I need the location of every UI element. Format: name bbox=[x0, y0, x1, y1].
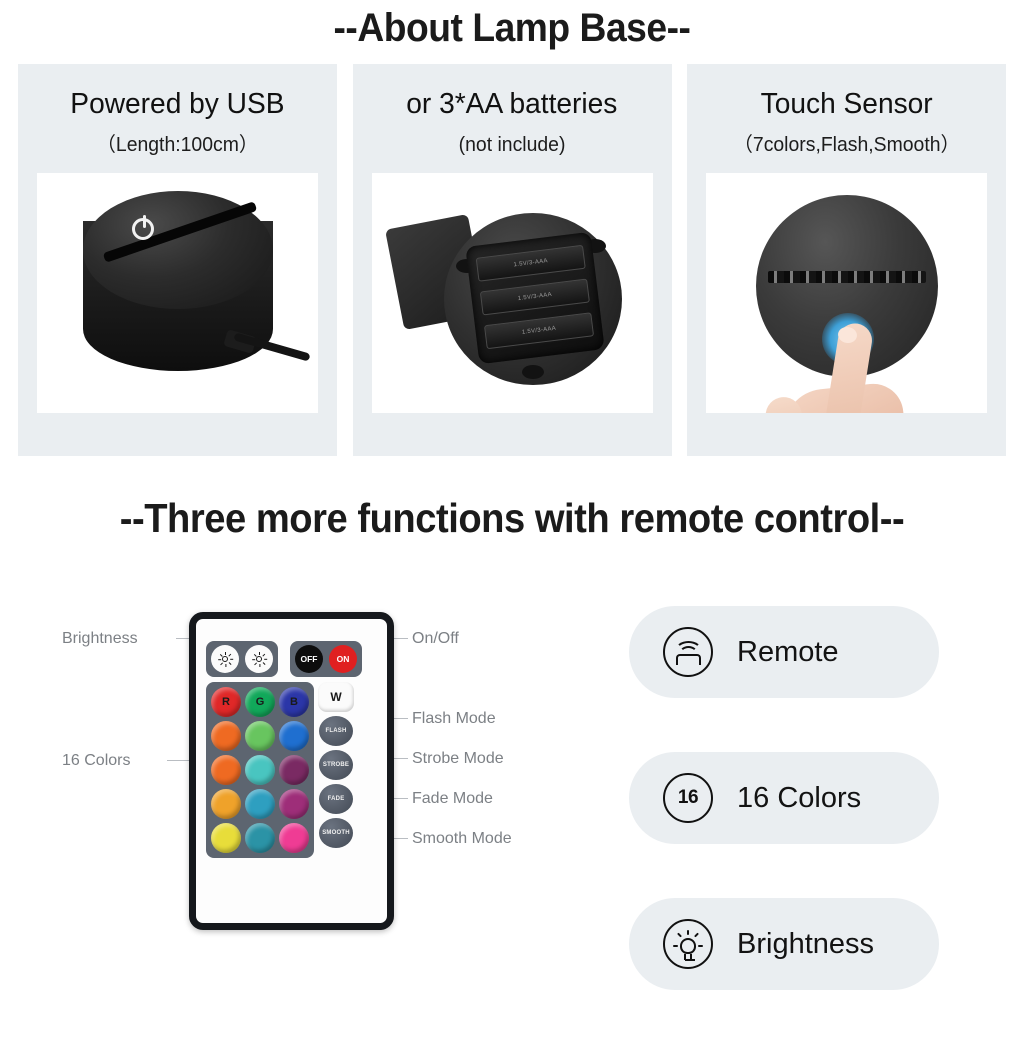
feature-pill-list: Remote 16 16 Colors Brightness bbox=[629, 606, 939, 1044]
callout-brightness: Brightness bbox=[62, 630, 138, 648]
color-button[interactable] bbox=[245, 755, 275, 785]
color-button[interactable] bbox=[279, 755, 309, 785]
remote-top-row: OFF ON bbox=[206, 641, 378, 677]
card-touch-sensor: Touch Sensor （7colors,Flash,Smooth） bbox=[687, 64, 1006, 456]
badge-number: 16 bbox=[678, 787, 698, 809]
brightness-up-button[interactable] bbox=[211, 645, 239, 673]
thumb bbox=[760, 395, 804, 413]
callout-on-off: On/Off bbox=[412, 630, 459, 648]
feature-pill-16-colors: 16 16 Colors bbox=[629, 752, 939, 844]
photo-touch-sensor bbox=[706, 173, 987, 413]
color-button-blue[interactable]: B bbox=[279, 687, 309, 717]
power-symbol-icon bbox=[132, 218, 154, 240]
color-button[interactable] bbox=[279, 823, 309, 853]
brightness-bulb-icon bbox=[663, 919, 713, 969]
brightness-down-button[interactable] bbox=[245, 645, 273, 673]
flash-mode-button[interactable]: FLASH bbox=[319, 716, 353, 746]
color-button-red[interactable]: R bbox=[211, 687, 241, 717]
color-button[interactable] bbox=[279, 789, 309, 819]
mode-button-column: W FLASH STROBE FADE SMOOTH bbox=[318, 682, 354, 858]
remote-lower-area: R G B W F bbox=[206, 682, 378, 858]
remote-control[interactable]: OFF ON R G B bbox=[189, 612, 394, 930]
lamp-base-illustration bbox=[37, 173, 318, 413]
brightness-button-group bbox=[206, 641, 278, 677]
battery-slot: 1.5V/3-AAA bbox=[475, 245, 585, 282]
card-subtitle: （Length:100cm） bbox=[97, 135, 259, 155]
card-aa-batteries: or 3*AA batteries (not include) 1.5V/3-A… bbox=[353, 64, 672, 456]
color-button[interactable] bbox=[279, 721, 309, 751]
strobe-mode-button[interactable]: STROBE bbox=[319, 750, 353, 780]
on-button[interactable]: ON bbox=[329, 645, 357, 673]
feature-pill-remote: Remote bbox=[629, 606, 939, 698]
fade-mode-button[interactable]: FADE bbox=[319, 784, 353, 814]
callout-16-colors: 16 Colors bbox=[62, 752, 130, 770]
remote-keypad: OFF ON R G B bbox=[206, 641, 378, 858]
smooth-mode-button[interactable]: SMOOTH bbox=[319, 818, 353, 848]
power-button-group: OFF ON bbox=[290, 641, 362, 677]
remote-signal-icon bbox=[663, 627, 713, 677]
color-button[interactable] bbox=[245, 721, 275, 751]
rubber-foot bbox=[522, 365, 544, 379]
sixteen-circle-icon: 16 bbox=[663, 773, 713, 823]
photo-battery-compartment: 1.5V/3-AAA 1.5V/3-AAA 1.5V/3-AAA bbox=[372, 173, 653, 413]
callout-fade-mode: Fade Mode bbox=[412, 790, 493, 808]
color-button[interactable] bbox=[211, 721, 241, 751]
color-button-grid: R G B bbox=[206, 682, 314, 858]
off-button[interactable]: OFF bbox=[295, 645, 323, 673]
page-title-remote-functions: --Three more functions with remote contr… bbox=[36, 495, 988, 542]
page-title-about-lamp-base: --About Lamp Base-- bbox=[36, 6, 988, 51]
card-title: or 3*AA batteries bbox=[406, 90, 617, 119]
remote-control-section: Brightness 16 Colors On/Off Flash Mode S… bbox=[0, 560, 1024, 1024]
color-button[interactable] bbox=[211, 755, 241, 785]
lamp-base-card-row: Powered by USB （Length:100cm） or 3*AA ba… bbox=[18, 64, 1006, 456]
feature-label: Brightness bbox=[737, 928, 874, 961]
battery-bay: 1.5V/3-AAA 1.5V/3-AAA 1.5V/3-AAA bbox=[465, 232, 604, 364]
callout-strobe-mode: Strobe Mode bbox=[412, 750, 504, 768]
sun-icon bbox=[253, 653, 266, 666]
battery-slot: 1.5V/3-AAA bbox=[483, 312, 593, 349]
card-title: Powered by USB bbox=[70, 90, 284, 119]
callout-flash-mode: Flash Mode bbox=[412, 710, 496, 728]
color-button-green[interactable]: G bbox=[245, 687, 275, 717]
callout-smooth-mode: Smooth Mode bbox=[412, 830, 512, 848]
card-powered-by-usb: Powered by USB （Length:100cm） bbox=[18, 64, 337, 456]
feature-label: 16 Colors bbox=[737, 782, 861, 815]
card-subtitle: (not include) bbox=[459, 135, 566, 155]
sun-icon bbox=[219, 653, 232, 666]
card-title: Touch Sensor bbox=[760, 90, 932, 119]
led-strip bbox=[768, 271, 926, 283]
photo-usb-lamp-base bbox=[37, 173, 318, 413]
feature-label: Remote bbox=[737, 636, 839, 669]
feature-pill-brightness: Brightness bbox=[629, 898, 939, 990]
color-button[interactable] bbox=[245, 789, 275, 819]
card-subtitle: （7colors,Flash,Smooth） bbox=[733, 135, 959, 155]
color-button[interactable] bbox=[211, 789, 241, 819]
color-button[interactable] bbox=[211, 823, 241, 853]
color-button[interactable] bbox=[245, 823, 275, 853]
battery-slot: 1.5V/3-AAA bbox=[479, 279, 589, 316]
white-button[interactable]: W bbox=[318, 682, 354, 712]
